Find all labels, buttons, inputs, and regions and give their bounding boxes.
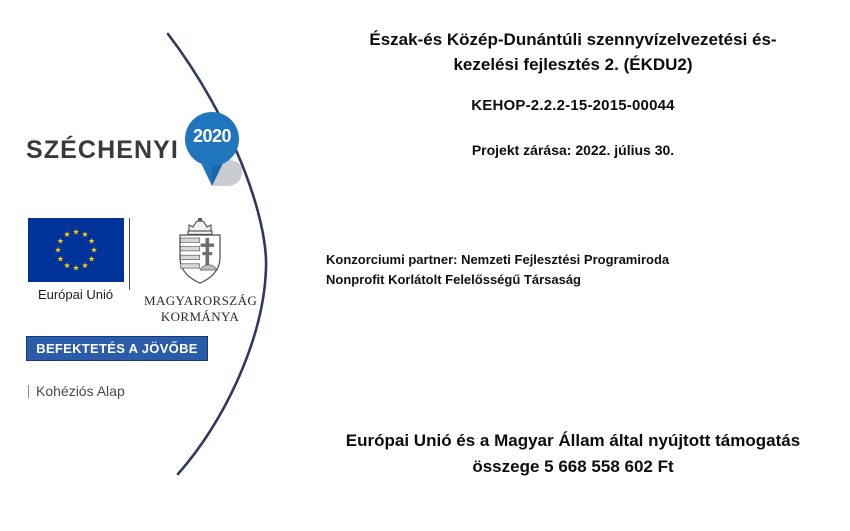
hungary-caption-line2: KORMÁNYA (144, 309, 256, 325)
support-line1: Európai Unió és a Magyar Állam által nyú… (318, 428, 828, 454)
eu-caption: Európai Unió (26, 287, 125, 302)
consortium-partner-text: Konzorciumi partner: Nemzeti Fejlesztési… (326, 250, 814, 290)
consortium-partner-line1: Konzorciumi partner: Nemzeti Fejlesztési… (326, 252, 669, 267)
hungary-caption: MAGYARORSZÁG KORMÁNYA (144, 293, 256, 326)
project-information-board: SZÉCHENYI 2020 Európai Unió (0, 0, 850, 531)
project-closing-date: Projekt zárása: 2022. július 30. (318, 142, 828, 158)
logo-column: SZÉCHENYI 2020 Európai Unió (26, 104, 256, 399)
logo-divider (129, 218, 130, 290)
eu-star-icon (88, 256, 94, 262)
project-title-line2: kezelési fejlesztés 2. (ÉKDU2) (318, 53, 828, 78)
hungary-government-logo: MAGYARORSZÁG KORMÁNYA (144, 218, 256, 326)
eu-star-icon (64, 262, 70, 268)
eu-star-icon (73, 229, 79, 235)
hungarian-coat-of-arms-icon (169, 218, 231, 284)
eu-star-icon (64, 231, 70, 237)
eu-star-icon (55, 247, 61, 253)
investing-in-the-future-banner: BEFEKTETÉS A JÖVŐBE (26, 336, 208, 361)
project-title: Észak-és Közép-Dunántúli szennyvízelveze… (318, 28, 828, 77)
eu-star-icon (82, 262, 88, 268)
cohesion-fund-line: Kohéziós Alap (28, 383, 256, 399)
vertical-bar-icon (28, 385, 29, 398)
eu-star-icon (73, 265, 79, 271)
eu-star-icon (88, 238, 94, 244)
eu-star-icon (82, 231, 88, 237)
banner-label: BEFEKTETÉS A JÖVŐBE (36, 341, 197, 356)
text-column: Észak-és Közép-Dunántúli szennyvízelveze… (318, 0, 828, 531)
european-union-flag-icon (28, 218, 124, 282)
szechenyi-2020-logo: SZÉCHENYI 2020 (26, 104, 256, 196)
project-title-line1: Észak-és Közép-Dunántúli szennyvízelveze… (318, 28, 828, 53)
hungary-caption-line1: MAGYARORSZÁG (144, 293, 256, 309)
eu-star-icon (91, 247, 97, 253)
szechenyi-wordmark: SZÉCHENYI (26, 138, 179, 163)
eu-star-icon (57, 238, 63, 244)
map-pin-icon: 2020 (185, 112, 243, 188)
consortium-partner-line2: Nonprofit Korlátolt Felelősségű Társaság (326, 270, 814, 290)
european-union-logo: Európai Unió (26, 218, 125, 302)
support-line2: összege 5 668 558 602 Ft (318, 454, 828, 480)
eu-star-icon (57, 256, 63, 262)
pin-year-label: 2020 (185, 126, 239, 147)
eu-hungary-logo-row: Európai Unió (26, 218, 256, 310)
eu-stars-svg (28, 218, 124, 282)
project-code: KEHOP-2.2.2-15-2015-00044 (318, 97, 828, 114)
support-amount-text: Európai Unió és a Magyar Állam által nyú… (318, 428, 828, 479)
cohesion-fund-label: Kohéziós Alap (36, 383, 125, 399)
